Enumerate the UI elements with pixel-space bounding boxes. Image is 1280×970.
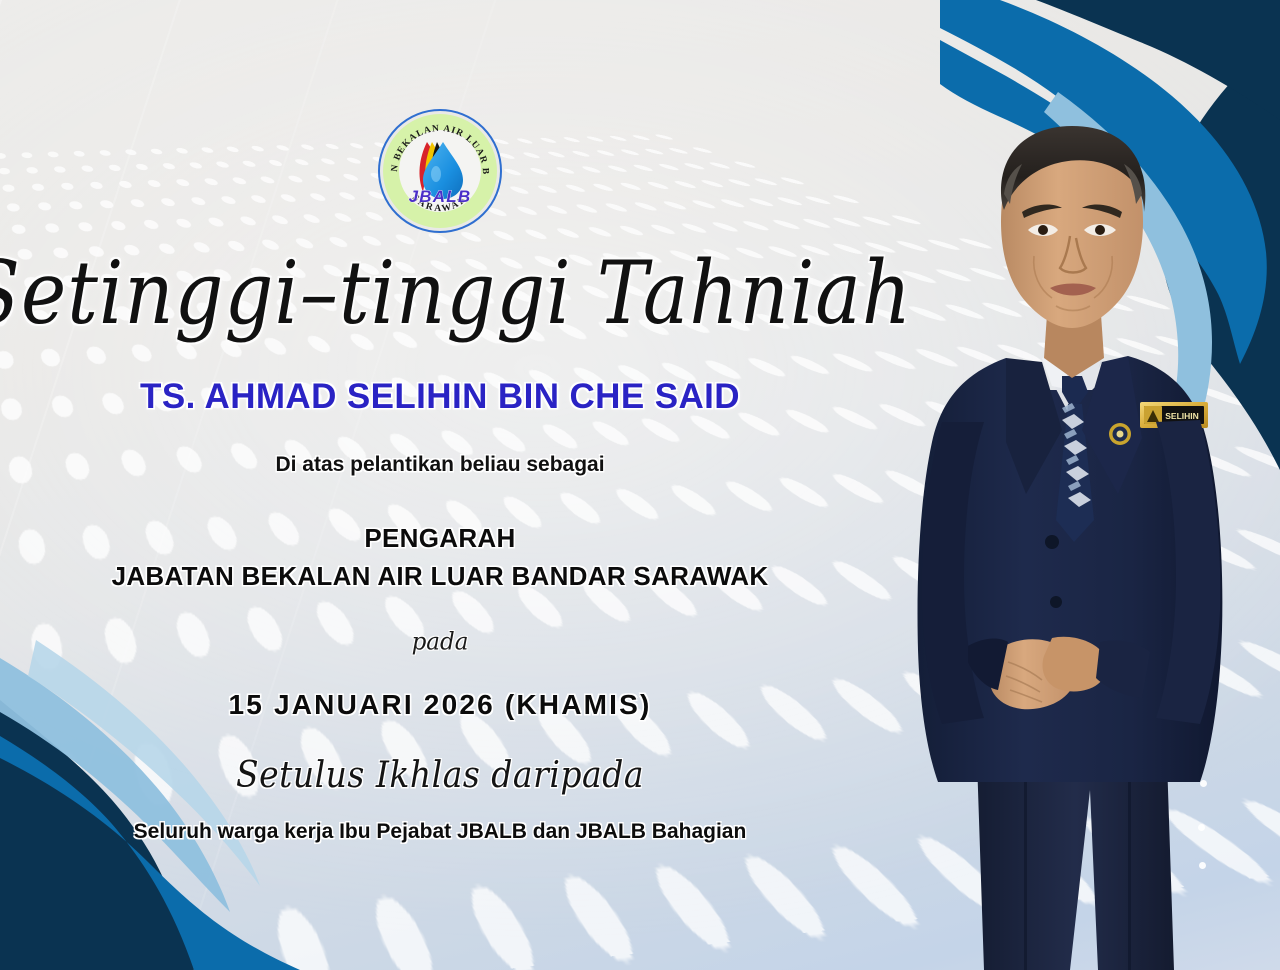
- congratulations-poster: SELIHIN: [0, 0, 1280, 970]
- portrait-photo: SELIHIN: [856, 90, 1280, 970]
- event-date: 15 JANUARI 2026 (KHAMIS): [228, 689, 651, 721]
- droplet-highlight: [431, 166, 441, 182]
- signoff-text: Seluruh warga kerja Ibu Pejabat JBALB da…: [134, 820, 747, 844]
- poster-content: JABATAN BEKALAN AIR LUAR BANDAR SARAWAK …: [0, 0, 880, 970]
- congratulations-headline: Setinggi–tinggi Tahniah: [0, 250, 912, 339]
- closing-script-text: Setulus Ikhlas daripada: [236, 754, 644, 797]
- jacket-button-1: [1045, 535, 1059, 549]
- trouser-crease-2: [1128, 750, 1131, 970]
- role-block: PENGARAH JABATAN BEKALAN AIR LUAR BANDAR…: [112, 519, 769, 596]
- jbalb-logo: JABATAN BEKALAN AIR LUAR BANDAR SARAWAK …: [375, 106, 505, 241]
- logo-acronym-text: JBALB: [409, 187, 472, 206]
- honouree-name: TS. AHMAD SELIHIN BIN CHE SAID: [140, 377, 740, 417]
- trouser-crease: [1024, 750, 1027, 970]
- role-title: PENGARAH: [364, 523, 515, 553]
- appointment-lead-text: Di atas pelantikan beliau sebagai: [275, 453, 604, 477]
- pada-label: pada: [412, 629, 469, 657]
- name-badge-text: SELIHIN: [1165, 411, 1199, 421]
- role-organisation: JABATAN BEKALAN AIR LUAR BANDAR SARAWAK: [112, 557, 769, 595]
- jacket-button-2: [1050, 596, 1062, 608]
- jbalb-logo-svg: JABATAN BEKALAN AIR LUAR BANDAR SARAWAK …: [375, 106, 505, 236]
- lapel-pin-icon: [1109, 423, 1131, 445]
